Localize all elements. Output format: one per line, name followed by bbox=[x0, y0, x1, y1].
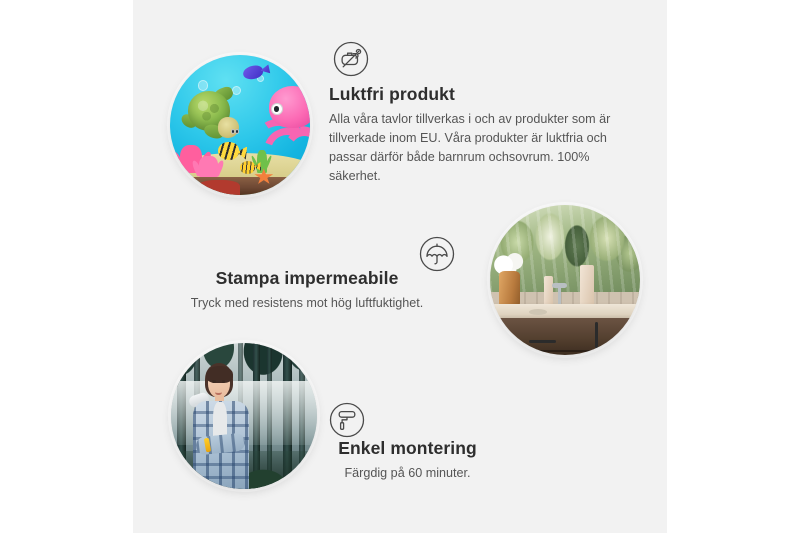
paint-roller-icon bbox=[325, 398, 369, 442]
feature-image-underwater bbox=[170, 55, 310, 195]
bottle-icon bbox=[544, 276, 553, 308]
soap-dish-icon bbox=[529, 309, 547, 315]
feature-text-waterproof-print: Stampa impermeabile Tryck med resistens … bbox=[173, 268, 441, 313]
rock-icon bbox=[198, 180, 240, 195]
vanity-cabinet bbox=[490, 318, 640, 356]
bathroom-scene bbox=[490, 205, 640, 355]
feature-title: Stampa impermeabile bbox=[173, 268, 441, 290]
coral-icon bbox=[199, 156, 217, 177]
underwater-scene bbox=[170, 55, 310, 195]
seabed-strip bbox=[170, 177, 310, 195]
product-info-graphic: Luktfri produkt Alla våra tavlor tillver… bbox=[0, 0, 800, 533]
feature-image-bathroom bbox=[490, 205, 640, 355]
feature-description: Färgdig på 60 minuter. bbox=[290, 464, 525, 483]
feature-title: Enkel montering bbox=[290, 438, 525, 460]
drawer-handle-icon bbox=[529, 340, 556, 343]
door-handle-icon bbox=[595, 322, 598, 348]
feature-title: Luktfri produkt bbox=[329, 84, 629, 106]
octopus-icon bbox=[254, 86, 310, 159]
bubble-icon bbox=[198, 80, 208, 90]
faucet-icon bbox=[558, 283, 562, 306]
painter-person bbox=[183, 363, 268, 489]
feature-description: Tryck med resistens mot hög luftfuktighe… bbox=[173, 294, 441, 313]
no-scent-icon bbox=[329, 37, 373, 81]
feature-text-easy-installation: Enkel montering Färgdig på 60 minuter. bbox=[290, 438, 525, 483]
feature-text-odour-free: Luktfri produkt Alla våra tavlor tillver… bbox=[329, 84, 629, 186]
content-panel: Luktfri produkt Alla våra tavlor tillver… bbox=[133, 0, 667, 533]
bottle-icon bbox=[580, 265, 594, 307]
feature-description: Alla våra tavlor tillverkas i och av pro… bbox=[329, 110, 629, 187]
turtle-icon bbox=[183, 91, 246, 141]
